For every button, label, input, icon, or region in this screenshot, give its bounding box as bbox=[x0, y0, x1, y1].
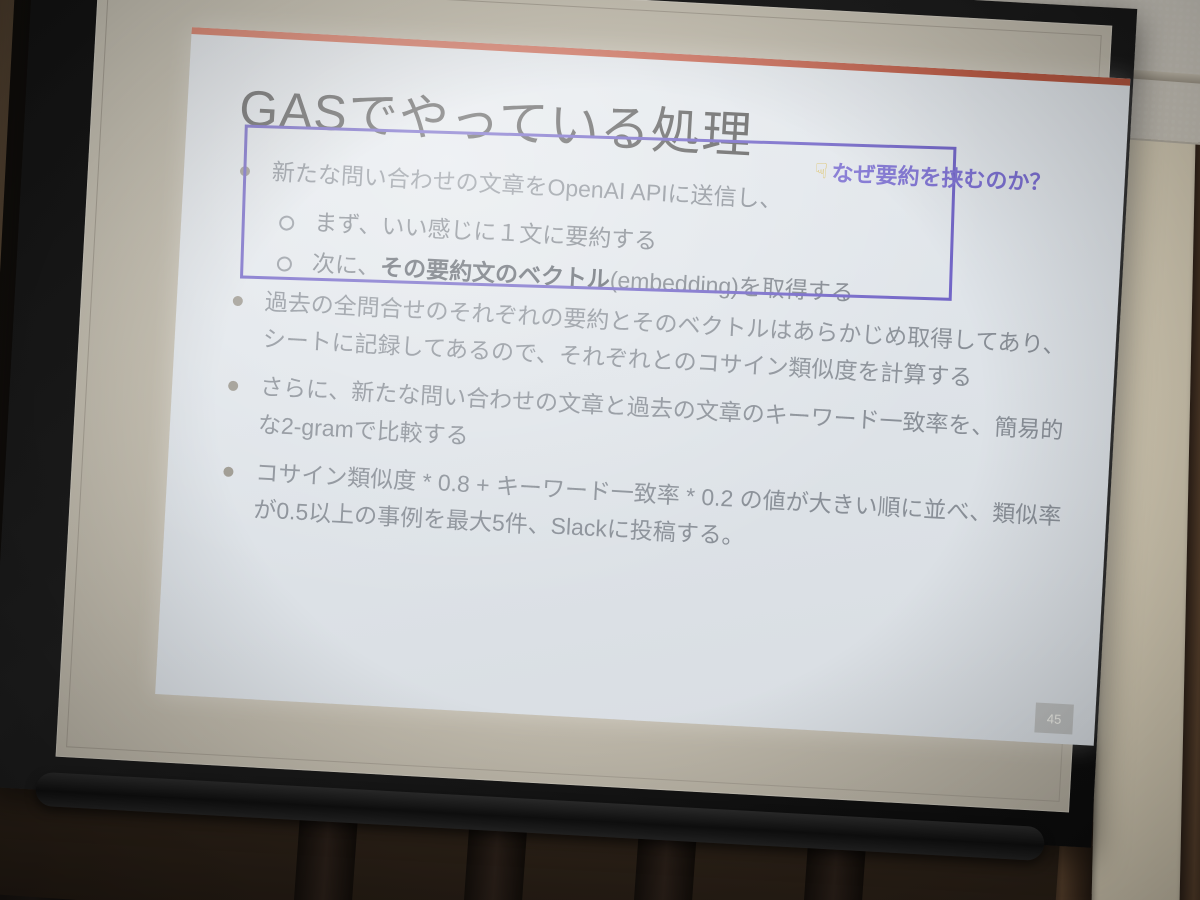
sub-bullet-ring-icon bbox=[277, 256, 293, 272]
room-scene: GASでやっている処理 新たな問い合わせの文章をOpenAI APIに送信し、 … bbox=[0, 0, 1200, 900]
sub-bullet-bold: その要約文のベクトル bbox=[380, 254, 611, 293]
bullet-dot-icon bbox=[240, 166, 251, 177]
projector-screen-surface: GASでやっている処理 新たな問い合わせの文章をOpenAI APIに送信し、 … bbox=[56, 0, 1113, 812]
pointing-hand-icon: ☟ bbox=[814, 160, 828, 182]
sub-bullet-prefix: 次に、 bbox=[311, 250, 381, 280]
sub-bullet-ring-icon bbox=[279, 215, 295, 231]
sub-bullet-suffix: (embedding)を取得する bbox=[609, 266, 854, 305]
bullet-dot-icon bbox=[228, 381, 239, 392]
slide-page-number: 45 bbox=[1034, 702, 1074, 734]
presentation-slide: GASでやっている処理 新たな問い合わせの文章をOpenAI APIに送信し、 … bbox=[155, 27, 1130, 746]
bullet-dot-icon bbox=[233, 296, 244, 307]
bullet-dot-icon bbox=[223, 466, 234, 477]
projector-screen-frame: GASでやっている処理 新たな問い合わせの文章をOpenAI APIに送信し、 … bbox=[0, 0, 1137, 848]
slide-body: 新たな問い合わせの文章をOpenAI APIに送信し、 まず、いい感じに１文に要… bbox=[210, 151, 1090, 584]
slide-title: GASでやっている処理 bbox=[238, 68, 755, 168]
